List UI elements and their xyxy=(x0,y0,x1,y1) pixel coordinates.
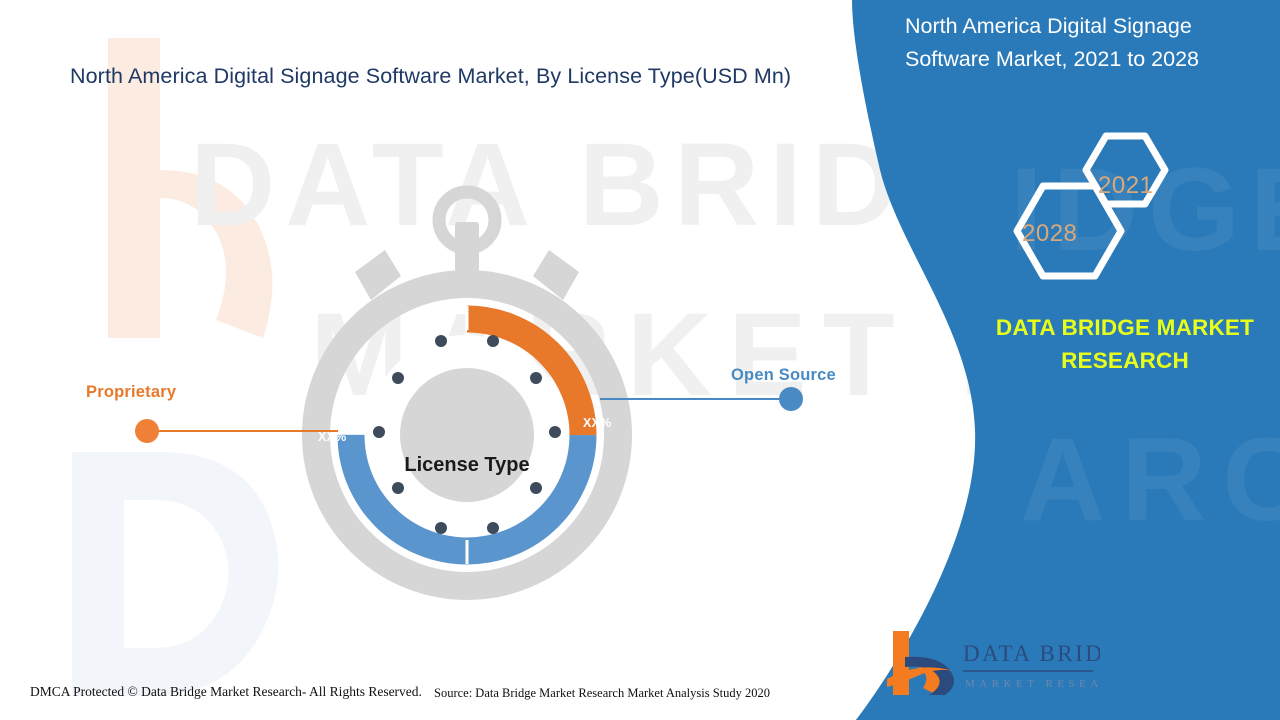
panel-title-line1: North America Digital Signage xyxy=(905,10,1260,43)
data-bridge-logo: DATA BRIDGE MARKET RESEARCH xyxy=(885,627,1100,699)
year-hexagons xyxy=(985,128,1200,288)
infographic-canvas: DATA BRIDGE MARKET RESEARCH IDGE ARCH No… xyxy=(0,0,1280,720)
open-source-percent-label: XX% xyxy=(583,416,611,430)
proprietary-leader-line xyxy=(148,430,338,432)
hexagon-year-start: 2021 xyxy=(1098,172,1153,200)
panel-title-line2: Software Market, 2021 to 2028 xyxy=(905,43,1260,76)
proprietary-percent-label: XX% xyxy=(318,430,346,444)
open-source-leader-line xyxy=(600,398,795,400)
legend-label-open-source: Open Source xyxy=(731,366,836,385)
logo-mark-icon xyxy=(887,631,954,695)
panel-title: North America Digital Signage Software M… xyxy=(905,10,1260,76)
footer-source: Source: Data Bridge Market Research Mark… xyxy=(434,686,770,701)
footer-copyright: DMCA Protected © Data Bridge Market Rese… xyxy=(30,684,422,700)
donut-chart-svg xyxy=(267,180,667,600)
brand-name: DATA BRIDGE MARKET RESEARCH xyxy=(965,311,1280,377)
donut-center-disc xyxy=(400,368,534,502)
proprietary-leader-dot-icon xyxy=(135,419,159,443)
donut-chart: License Type xyxy=(267,180,667,600)
open-source-leader-dot-icon xyxy=(779,387,803,411)
brand-line1: DATA BRIDGE MARKET xyxy=(965,311,1280,344)
logo-primary-text: DATA BRIDGE xyxy=(963,641,1100,666)
hexagon-year-end: 2028 xyxy=(1022,220,1077,248)
svg-text:ARCH: ARCH xyxy=(1020,414,1280,546)
chart-title: North America Digital Signage Software M… xyxy=(70,64,890,89)
legend-label-proprietary: Proprietary xyxy=(86,383,176,402)
brand-line2: RESEARCH xyxy=(965,344,1280,377)
logo-secondary-text: MARKET RESEARCH xyxy=(965,678,1100,690)
